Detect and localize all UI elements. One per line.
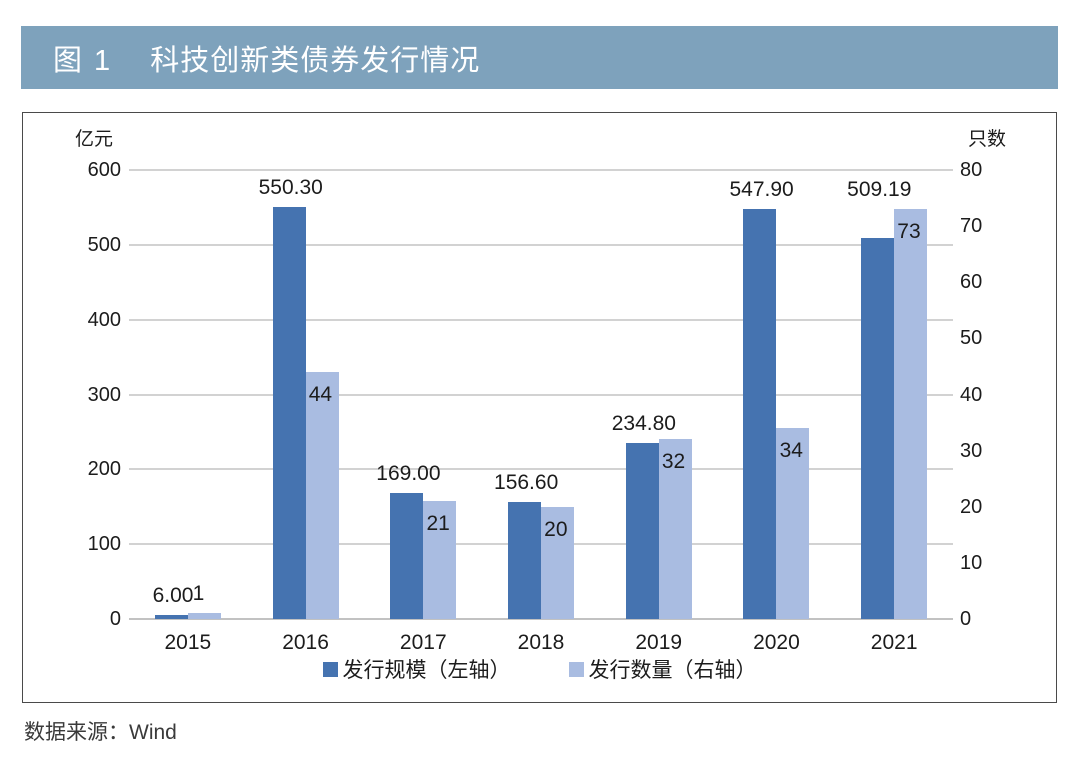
issuance-count-bar[interactable]: [894, 209, 927, 619]
legend-swatch-icon: [569, 662, 584, 677]
issuance-scale-bar[interactable]: [508, 502, 541, 619]
left-tick-label: 600: [88, 160, 121, 180]
issuance-count-bar[interactable]: [188, 613, 221, 619]
issuance-count-value-label: 1: [193, 583, 205, 604]
right-tick-label: 30: [960, 441, 982, 461]
issuance-scale-value-label: 156.60: [494, 472, 558, 493]
issuance-scale-bar[interactable]: [155, 615, 188, 619]
chart-plot-wrapper: 亿元 只数 6005004003002001000 80706050403020…: [23, 113, 1056, 702]
bar-group: [390, 170, 456, 619]
chart-plot-area: 6.001550.3044169.0021156.6020234.8032547…: [129, 170, 953, 619]
bar-group: [626, 170, 692, 619]
issuance-count-value-label: 34: [780, 440, 803, 461]
issuance-count-value-label: 20: [544, 519, 567, 540]
right-tick-label: 40: [960, 385, 982, 405]
right-tick-label: 20: [960, 497, 982, 517]
right-tick-label: 50: [960, 328, 982, 348]
figure-title-banner: 图 1 科技创新类债券发行情况: [21, 26, 1058, 89]
bar-group: [155, 170, 221, 619]
right-tick-label: 70: [960, 216, 982, 236]
issuance-count-value-label: 73: [897, 221, 920, 242]
issuance-count-bar[interactable]: [306, 372, 339, 619]
chart-frame: 亿元 只数 6005004003002001000 80706050403020…: [22, 112, 1057, 703]
x-axis-label-2021: 2021: [871, 631, 918, 655]
issuance-scale-value-label: 234.80: [612, 413, 676, 434]
legend-item-issuance-count[interactable]: 发行数量（右轴）: [569, 654, 757, 684]
figure-root: 图 1 科技创新类债券发行情况 亿元 只数 600500400300200100…: [0, 0, 1080, 759]
chart-legend: 发行规模（左轴）发行数量（右轴）: [23, 654, 1056, 684]
right-tick-label: 0: [960, 609, 971, 629]
right-axis-tick-labels: 80706050403020100: [960, 113, 1020, 702]
bar-group: [743, 170, 809, 619]
figure-title: 科技创新类债券发行情况: [150, 37, 480, 79]
right-tick-label: 60: [960, 272, 982, 292]
issuance-scale-value-label: 547.90: [729, 179, 793, 200]
left-tick-label: 0: [110, 609, 121, 629]
issuance-count-value-label: 32: [662, 451, 685, 472]
legend-label: 发行规模（左轴）: [343, 654, 511, 684]
x-axis-label-2016: 2016: [282, 631, 329, 655]
issuance-count-value-label: 21: [426, 513, 449, 534]
issuance-scale-value-label: 550.30: [259, 177, 323, 198]
left-tick-label: 500: [88, 235, 121, 255]
x-axis-label-2015: 2015: [164, 631, 211, 655]
legend-label: 发行数量（右轴）: [589, 654, 757, 684]
issuance-scale-bar[interactable]: [390, 493, 423, 619]
x-axis-label-2017: 2017: [400, 631, 447, 655]
left-tick-label: 400: [88, 310, 121, 330]
issuance-scale-bar[interactable]: [273, 207, 306, 619]
issuance-scale-value-label: 6.00: [153, 585, 194, 606]
x-axis-label-2019: 2019: [635, 631, 682, 655]
issuance-scale-bar[interactable]: [626, 443, 659, 619]
x-axis-label-2020: 2020: [753, 631, 800, 655]
issuance-scale-value-label: 509.19: [847, 179, 911, 200]
issuance-scale-bar[interactable]: [743, 209, 776, 619]
issuance-scale-value-label: 169.00: [376, 463, 440, 484]
figure-number: 图 1: [53, 37, 112, 79]
right-tick-label: 80: [960, 160, 982, 180]
issuance-scale-bar[interactable]: [861, 238, 894, 619]
legend-item-issuance-scale[interactable]: 发行规模（左轴）: [323, 654, 511, 684]
left-tick-label: 200: [88, 459, 121, 479]
left-tick-label: 100: [88, 534, 121, 554]
bar-group: [508, 170, 574, 619]
data-source-note: 数据来源：Wind: [24, 716, 177, 746]
legend-swatch-icon: [323, 662, 338, 677]
left-axis-tick-labels: 6005004003002001000: [61, 113, 121, 702]
right-tick-label: 10: [960, 553, 982, 573]
x-axis-label-2018: 2018: [518, 631, 565, 655]
issuance-count-value-label: 44: [309, 384, 332, 405]
left-tick-label: 300: [88, 385, 121, 405]
